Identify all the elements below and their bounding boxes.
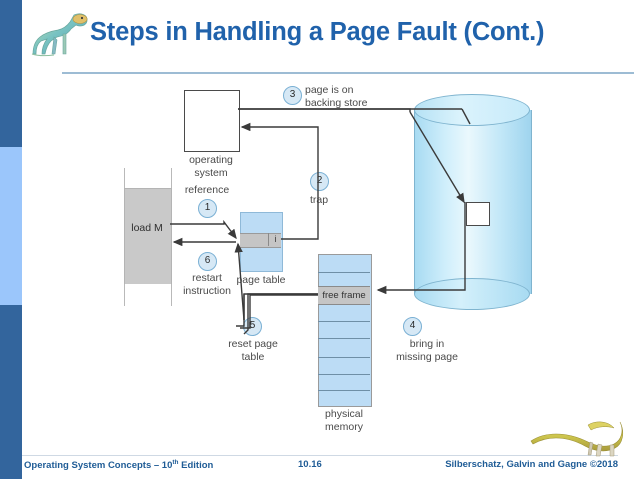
footer-copyright: Silberschatz, Galvin and Gagne ©2018	[445, 459, 618, 470]
slide-title-bar: Steps in Handling a Page Fault (Cont.)	[28, 8, 618, 66]
dinosaur-logo-icon	[30, 10, 92, 62]
page-fault-diagram: operating system 3 page is on backing st…	[0, 72, 638, 422]
footer-dinosaur-icon	[528, 416, 624, 458]
diagram-connectors	[0, 72, 638, 422]
page-title: Steps in Handling a Page Fault (Cont.)	[90, 18, 630, 47]
footer-page-number: 10.16	[298, 459, 322, 470]
footer-edition: Operating System Concepts – 10th Edition	[24, 459, 213, 471]
